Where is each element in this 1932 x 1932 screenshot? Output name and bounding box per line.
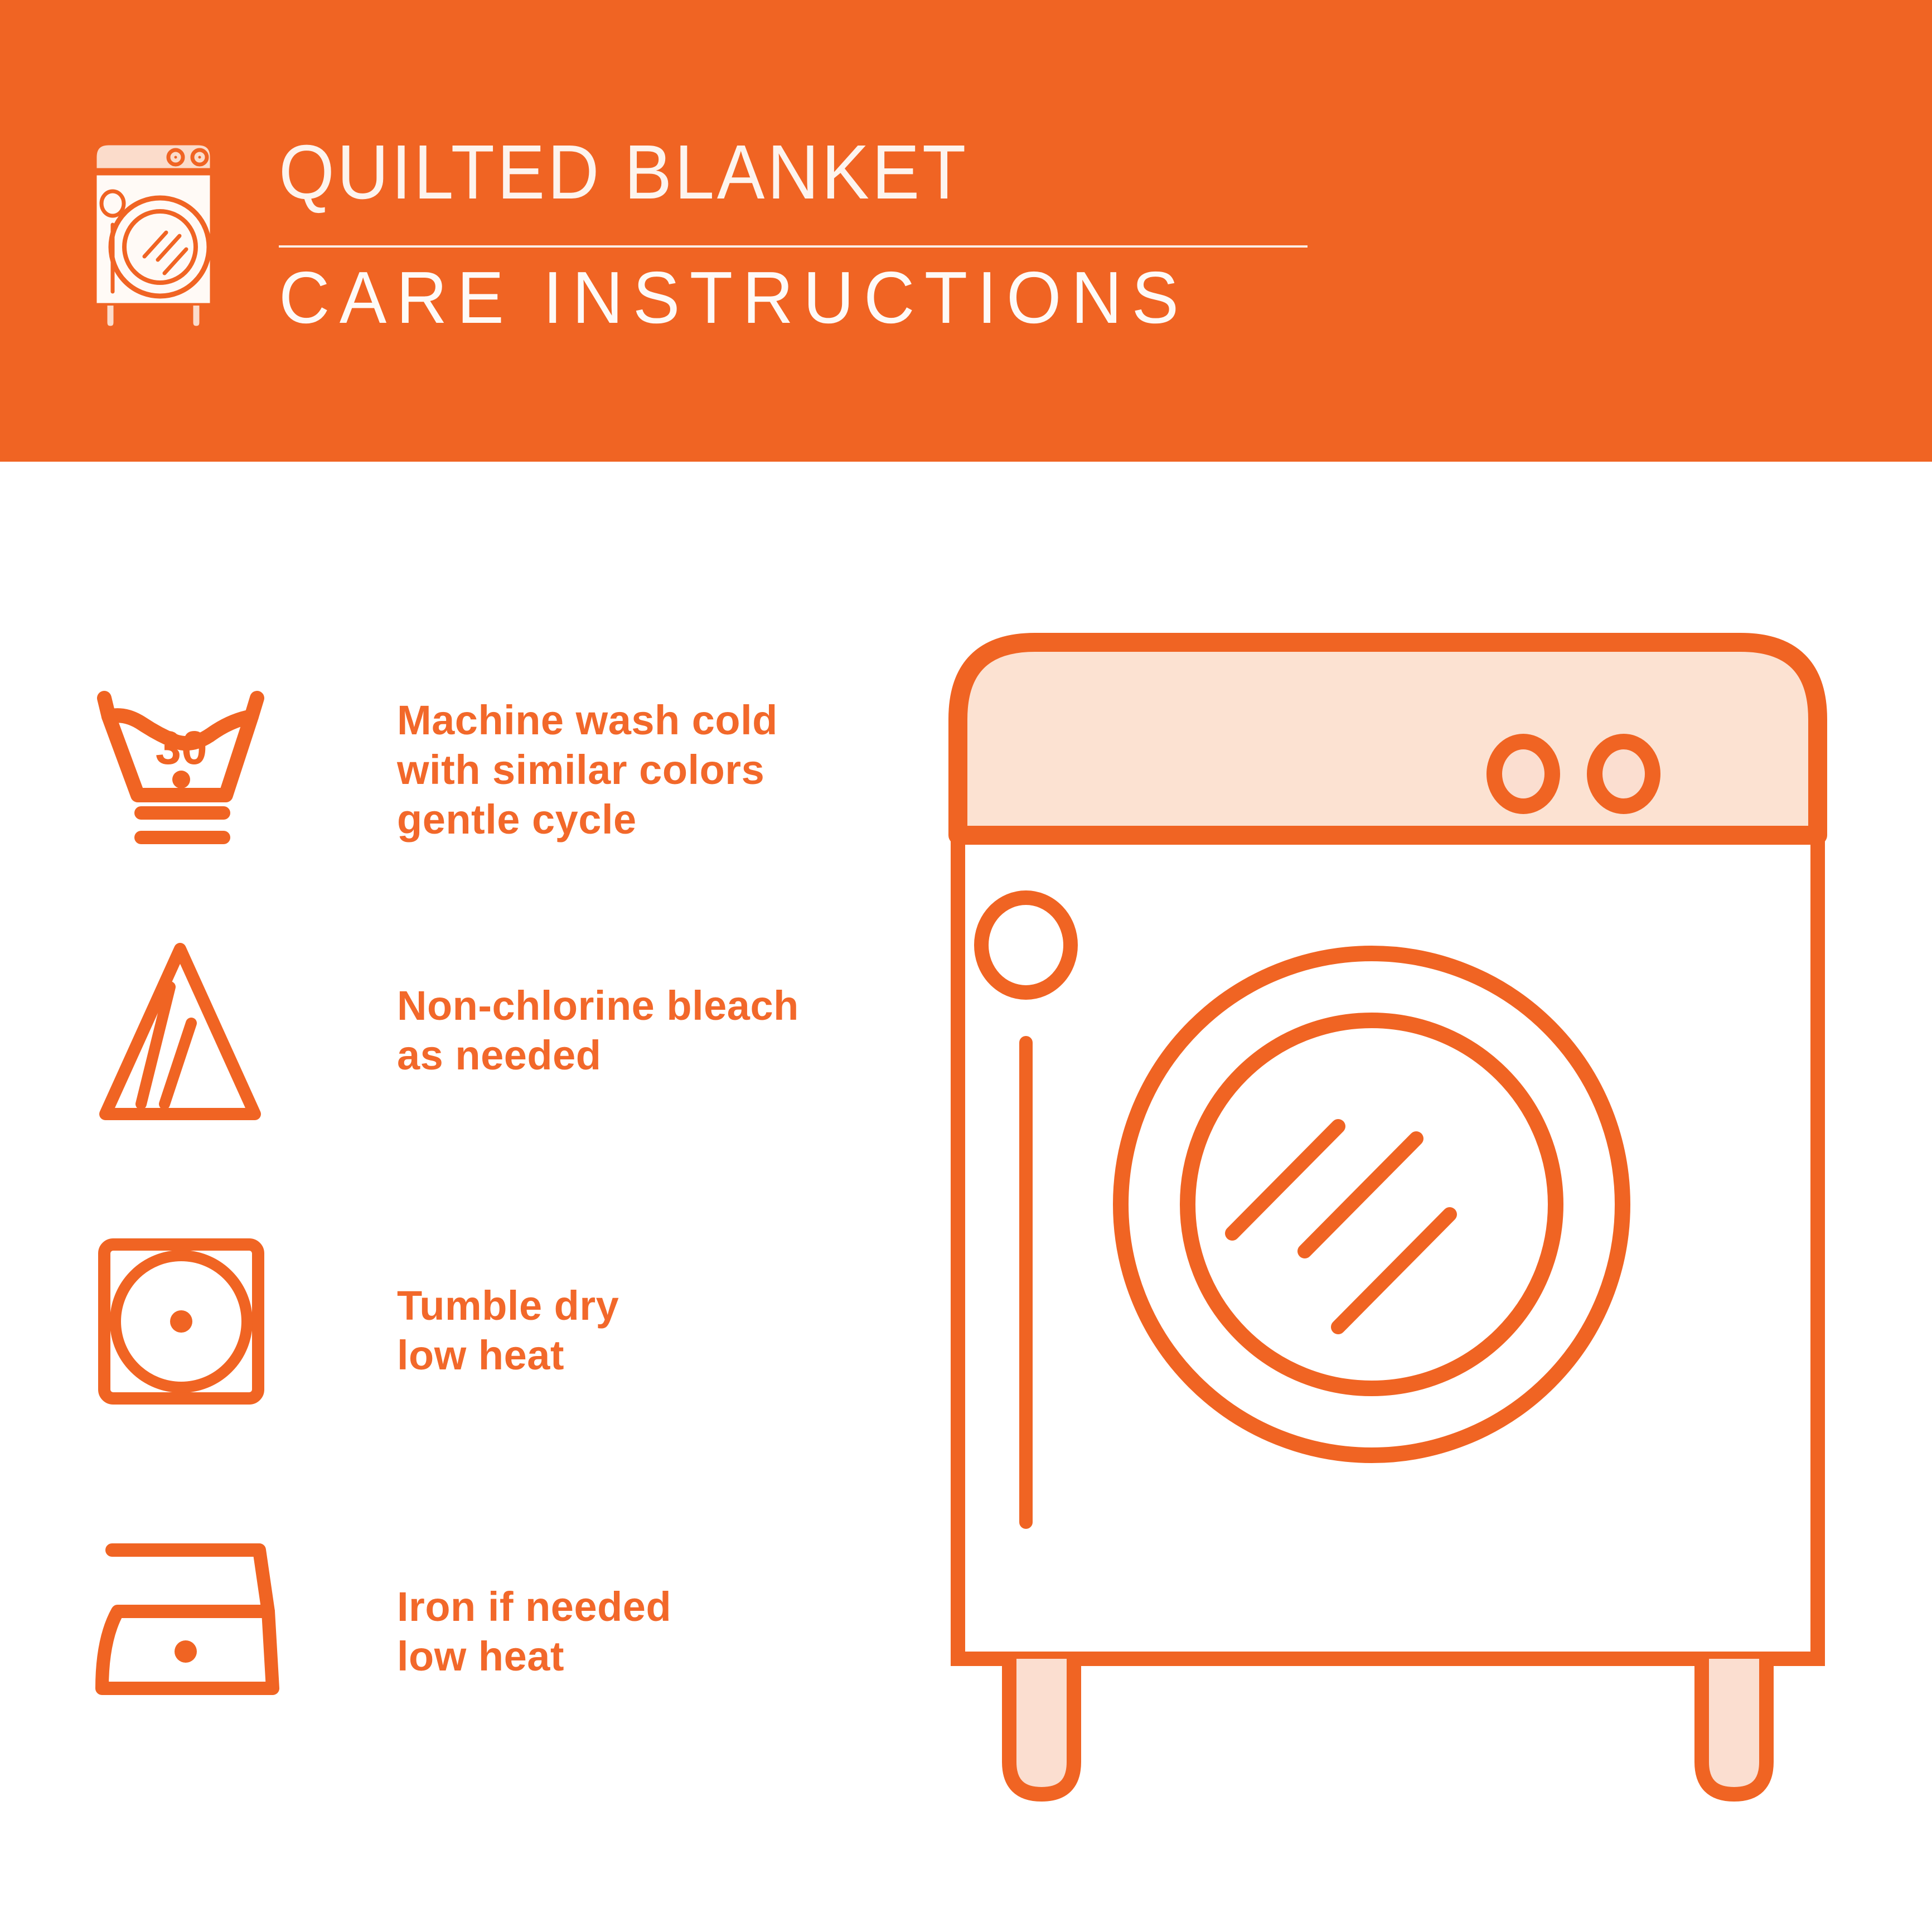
- page-subtitle: CARE INSTRUCTIONS: [279, 261, 1188, 335]
- care-label-tumble-dry: Tumble dry low heat: [397, 1281, 619, 1381]
- control-panel: [958, 642, 1818, 835]
- wash-tub-30-gentle-icon: 30: [92, 686, 293, 856]
- iron-low-heat-icon: [92, 1528, 293, 1709]
- foot-left: [1009, 1659, 1074, 1794]
- page-title: QUILTED BLANKET: [279, 134, 1243, 211]
- care-label-bleach: Non-chlorine bleach as needed: [397, 981, 799, 1081]
- header-text-block: QUILTED BLANKET CARE INSTRUCTIONS: [279, 134, 1316, 340]
- non-chlorine-bleach-triangle-icon: [92, 937, 293, 1129]
- svg-text:30: 30: [155, 722, 207, 774]
- header-band: QUILTED BLANKET CARE INSTRUCTIONS: [0, 0, 1932, 462]
- care-label-iron: Iron if needed low heat: [397, 1582, 671, 1682]
- foot-right: [1702, 1659, 1766, 1794]
- knob-left: [1494, 742, 1552, 806]
- tumble-dry-low-heat-icon: [92, 1232, 282, 1419]
- knob-right: [1595, 742, 1653, 806]
- care-label-machine-wash: Machine wash cold with similar colors ge…: [397, 696, 778, 844]
- washing-machine-icon: [86, 138, 248, 331]
- washing-machine-illustration: [948, 630, 1873, 1818]
- title-divider: [279, 245, 1308, 248]
